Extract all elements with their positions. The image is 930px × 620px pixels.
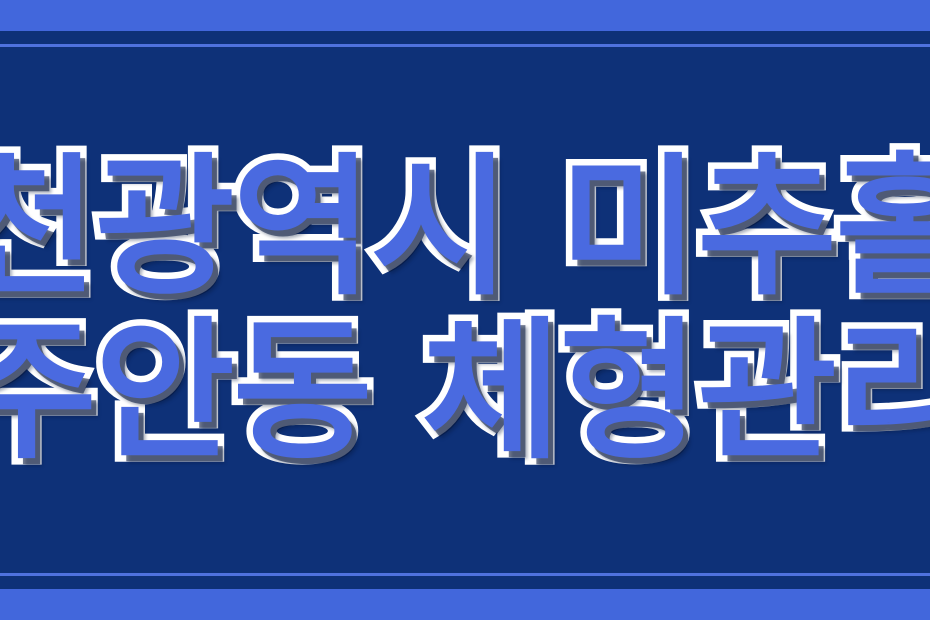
bottom-left-accent-sliver xyxy=(0,589,30,620)
top-accent-band xyxy=(0,0,930,31)
bottom-hairline-rule xyxy=(0,573,930,576)
promo-banner: 인천광역시 미추홀구 주안동 체형관리 xyxy=(0,0,930,620)
bottom-accent-band xyxy=(0,589,930,620)
top-hairline-rule xyxy=(0,44,930,47)
banner-inner-plate xyxy=(0,31,930,589)
